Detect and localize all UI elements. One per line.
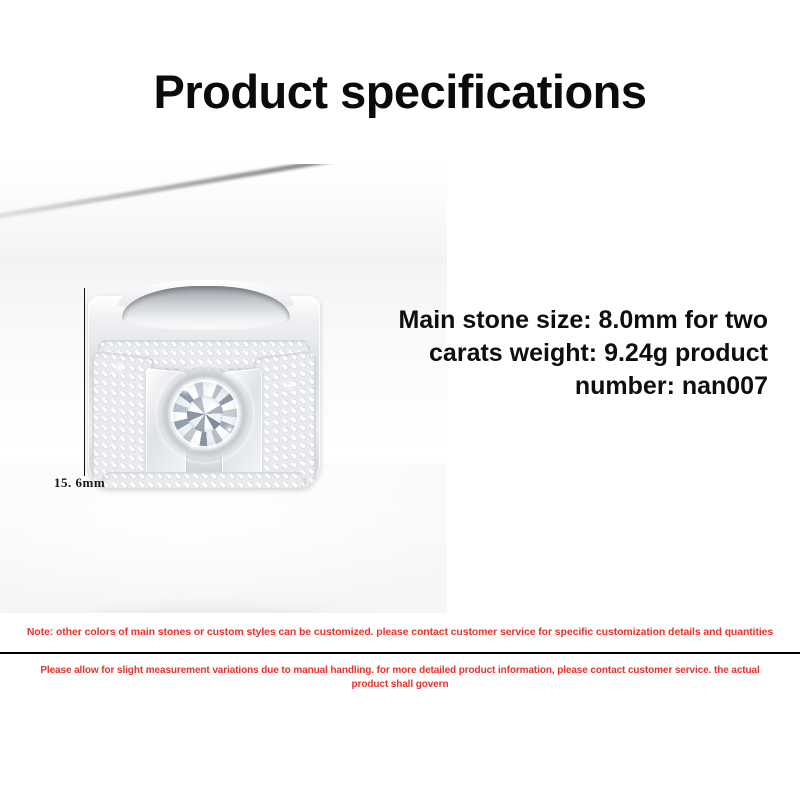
specification-text: Main stone size: 8.0mm for two carats we… — [368, 304, 768, 403]
sparkle-icon — [228, 428, 231, 431]
page-title: Product specifications — [0, 68, 800, 115]
footer-divider — [0, 652, 800, 654]
ring-image — [88, 278, 320, 488]
ring-center-stone-table — [187, 396, 223, 432]
sparkle-icon — [118, 366, 121, 369]
ring-pave-right-panel — [254, 350, 316, 488]
ring-pave-bottom-row — [102, 472, 306, 488]
sparkle-icon — [192, 444, 195, 447]
sparkle-icon — [184, 388, 187, 391]
ring-shadow — [60, 604, 360, 613]
dimension-label: 15. 6mm — [54, 475, 105, 491]
note-measurement-disclaimer: Please allow for slight measurement vari… — [28, 664, 772, 691]
ring-pave-left-panel — [92, 350, 154, 488]
sparkle-icon — [288, 384, 291, 387]
note-customization: Note: other colors of main stones or cus… — [0, 626, 800, 638]
dimension-measure-line — [84, 288, 85, 476]
